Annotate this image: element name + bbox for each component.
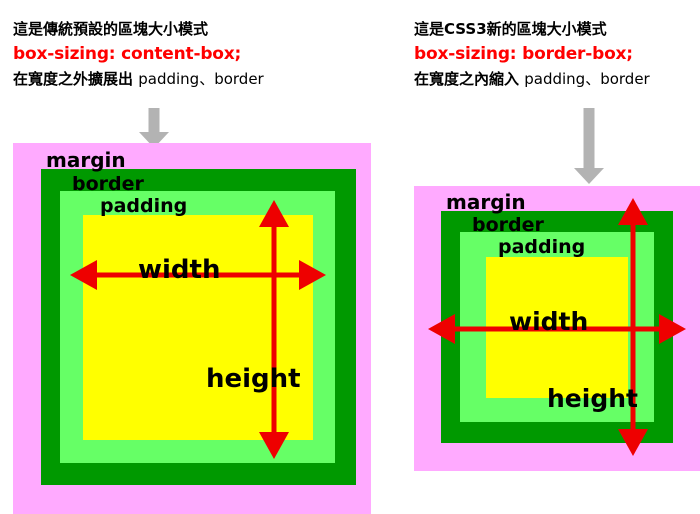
- caption-right-line3-mono: padding、border: [524, 70, 649, 88]
- down-arrow-shaft: [149, 108, 160, 132]
- caption-left-line3: 在寬度之外擴展出 padding、border: [13, 68, 264, 91]
- padding-label: padding: [498, 236, 585, 258]
- caption-content-box: 這是傳統預設的區塊大小模式 box-sizing: content-box; 在…: [13, 18, 264, 91]
- caption-right-line1: 這是CSS3新的區塊大小模式: [414, 18, 650, 41]
- margin-label: margin: [46, 148, 126, 172]
- box-model-diagram-border-box: margin border padding width height: [414, 186, 700, 471]
- height-arrow-tip-bottom: [259, 432, 289, 459]
- width-label: width: [138, 255, 220, 285]
- caption-left-line1: 這是傳統預設的區塊大小模式: [13, 18, 264, 41]
- width-arrow-tip-right: [299, 260, 326, 290]
- caption-right-line3: 在寬度之內縮入 padding、border: [414, 68, 650, 91]
- height-dimension-arrow: [258, 200, 290, 459]
- margin-label: margin: [446, 190, 526, 214]
- width-arrow-tip-left: [428, 314, 455, 344]
- width-arrow-tip-left: [70, 260, 97, 290]
- height-label: height: [547, 384, 638, 413]
- caption-border-box: 這是CSS3新的區塊大小模式 box-sizing: border-box; 在…: [414, 18, 650, 91]
- width-arrow-tip-right: [659, 314, 686, 344]
- down-arrow-shaft: [584, 108, 595, 168]
- height-dimension-arrow: [617, 198, 649, 456]
- border-label: border: [472, 214, 544, 236]
- height-arrow-tip-top: [259, 200, 289, 227]
- padding-label: padding: [100, 195, 187, 217]
- height-arrow-bar: [272, 214, 277, 445]
- caption-left-line3-prefix: 在寬度之外擴展出: [13, 70, 133, 88]
- height-arrow-tip-top: [618, 198, 648, 225]
- height-label: height: [206, 364, 301, 394]
- down-arrow-icon: [574, 108, 604, 184]
- border-label: border: [72, 173, 144, 195]
- down-arrow-head: [574, 168, 604, 184]
- caption-left-line3-mono: padding、border: [138, 70, 263, 88]
- caption-left-code: box-sizing: content-box;: [13, 41, 264, 67]
- down-arrow-icon: [139, 108, 169, 148]
- width-label: width: [509, 307, 588, 336]
- box-model-diagram-content-box: margin border padding width height: [13, 143, 371, 514]
- diagram-canvas: 這是傳統預設的區塊大小模式 box-sizing: content-box; 在…: [0, 0, 700, 514]
- caption-right-code: box-sizing: border-box;: [414, 41, 650, 67]
- caption-right-line3-prefix: 在寬度之內縮入: [414, 70, 519, 88]
- height-arrow-tip-bottom: [618, 429, 648, 456]
